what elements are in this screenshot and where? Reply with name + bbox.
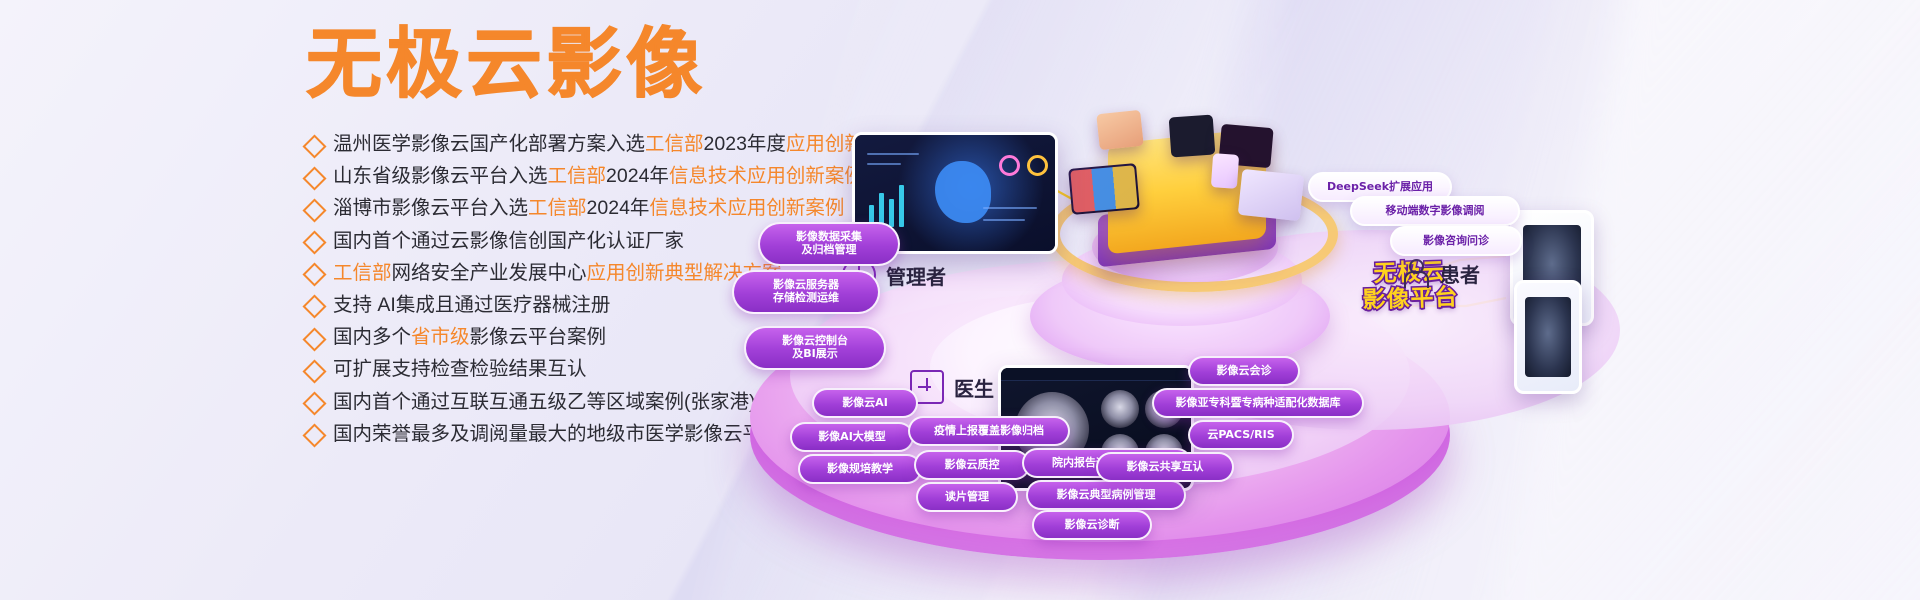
pill-p6[interactable]: 影像规培教学 bbox=[798, 454, 922, 484]
dashboard-map-blob bbox=[935, 161, 991, 223]
xray-image bbox=[1525, 297, 1571, 377]
pill-p3[interactable]: 影像云控制台 及BI展示 bbox=[744, 326, 886, 370]
dashboard-line bbox=[983, 219, 1025, 221]
person-icon bbox=[1400, 258, 1430, 288]
role-doctor: 医生 bbox=[910, 370, 994, 404]
dashboard-line bbox=[867, 153, 919, 155]
pill-p2[interactable]: 影像云服务器 存储检测运维 bbox=[732, 270, 880, 314]
dashboard-line bbox=[867, 163, 901, 165]
dashboard-bar bbox=[889, 199, 894, 227]
patient-phone bbox=[1514, 280, 1582, 394]
ct-toolbar bbox=[1001, 368, 1191, 381]
wordmark-line-2: 影像平台 bbox=[1340, 284, 1481, 315]
pill-p12[interactable]: 影像云诊断 bbox=[1032, 510, 1152, 540]
role-label: 医生 bbox=[954, 373, 994, 402]
diamond-bullet-icon bbox=[302, 424, 326, 448]
pill-p4[interactable]: 影像云AI bbox=[812, 388, 918, 418]
diamond-bullet-icon bbox=[302, 231, 326, 255]
core-screen-a bbox=[1096, 110, 1144, 150]
diamond-bullet-icon bbox=[302, 166, 326, 190]
role-patient: 患者 bbox=[1400, 258, 1480, 288]
banner-stage: 无极云影像 温州医学影像云国产化部署方案入选工信部2023年度应用创新应用示范案… bbox=[0, 0, 1920, 600]
pill-p7[interactable]: 疫情上报覆盖影像归档 bbox=[908, 416, 1070, 446]
pill-p9[interactable]: 读片管理 bbox=[916, 482, 1018, 512]
diamond-bullet-icon bbox=[302, 327, 326, 351]
page-title: 无极云影像 bbox=[306, 22, 706, 106]
pill-p5[interactable]: 影像AI大模型 bbox=[790, 422, 914, 452]
platform-illustration: 无极云 影像平台 管理者 医生 患者 影像数据采集 及归档管理 影像云服务器 存… bbox=[700, 110, 1920, 580]
role-label: 患者 bbox=[1440, 259, 1480, 288]
pill-p1[interactable]: 影像数据采集 及归档管理 bbox=[758, 222, 900, 266]
diamond-bullet-icon bbox=[302, 263, 326, 287]
diamond-bullet-icon bbox=[302, 134, 326, 158]
pill-p14[interactable]: 影像亚专科暨专病种适配化数据库 bbox=[1152, 388, 1364, 418]
diamond-bullet-icon bbox=[302, 198, 326, 222]
role-label: 管理者 bbox=[886, 261, 946, 290]
pill-p15[interactable]: 云PACS/RIS bbox=[1188, 420, 1294, 450]
ct-image-thumb bbox=[1101, 390, 1139, 428]
core-screen-tiles bbox=[1070, 165, 1137, 212]
core-screen-b bbox=[1169, 115, 1216, 158]
diamond-bullet-icon bbox=[302, 391, 326, 415]
core-screen-f bbox=[1211, 153, 1239, 189]
pill-p8[interactable]: 影像云质控 bbox=[914, 450, 1030, 480]
dashboard-bar bbox=[899, 185, 904, 227]
dashboard-gauge-amber bbox=[1027, 155, 1048, 176]
diamond-bullet-icon bbox=[302, 295, 326, 319]
diamond-bullet-icon bbox=[302, 359, 326, 383]
pill-p13[interactable]: 影像云会诊 bbox=[1188, 356, 1300, 386]
pill-p16[interactable]: 影像云共享互认 bbox=[1096, 452, 1234, 482]
pill-p19[interactable]: 影像咨询问诊 bbox=[1390, 226, 1522, 256]
dashboard-gauge-pink bbox=[999, 155, 1020, 176]
core-screen-e bbox=[1238, 169, 1304, 221]
pill-p18[interactable]: 移动端数字影像调阅 bbox=[1350, 196, 1520, 226]
pill-p11[interactable]: 影像云典型病例管理 bbox=[1026, 480, 1186, 510]
dashboard-line bbox=[983, 207, 1037, 209]
